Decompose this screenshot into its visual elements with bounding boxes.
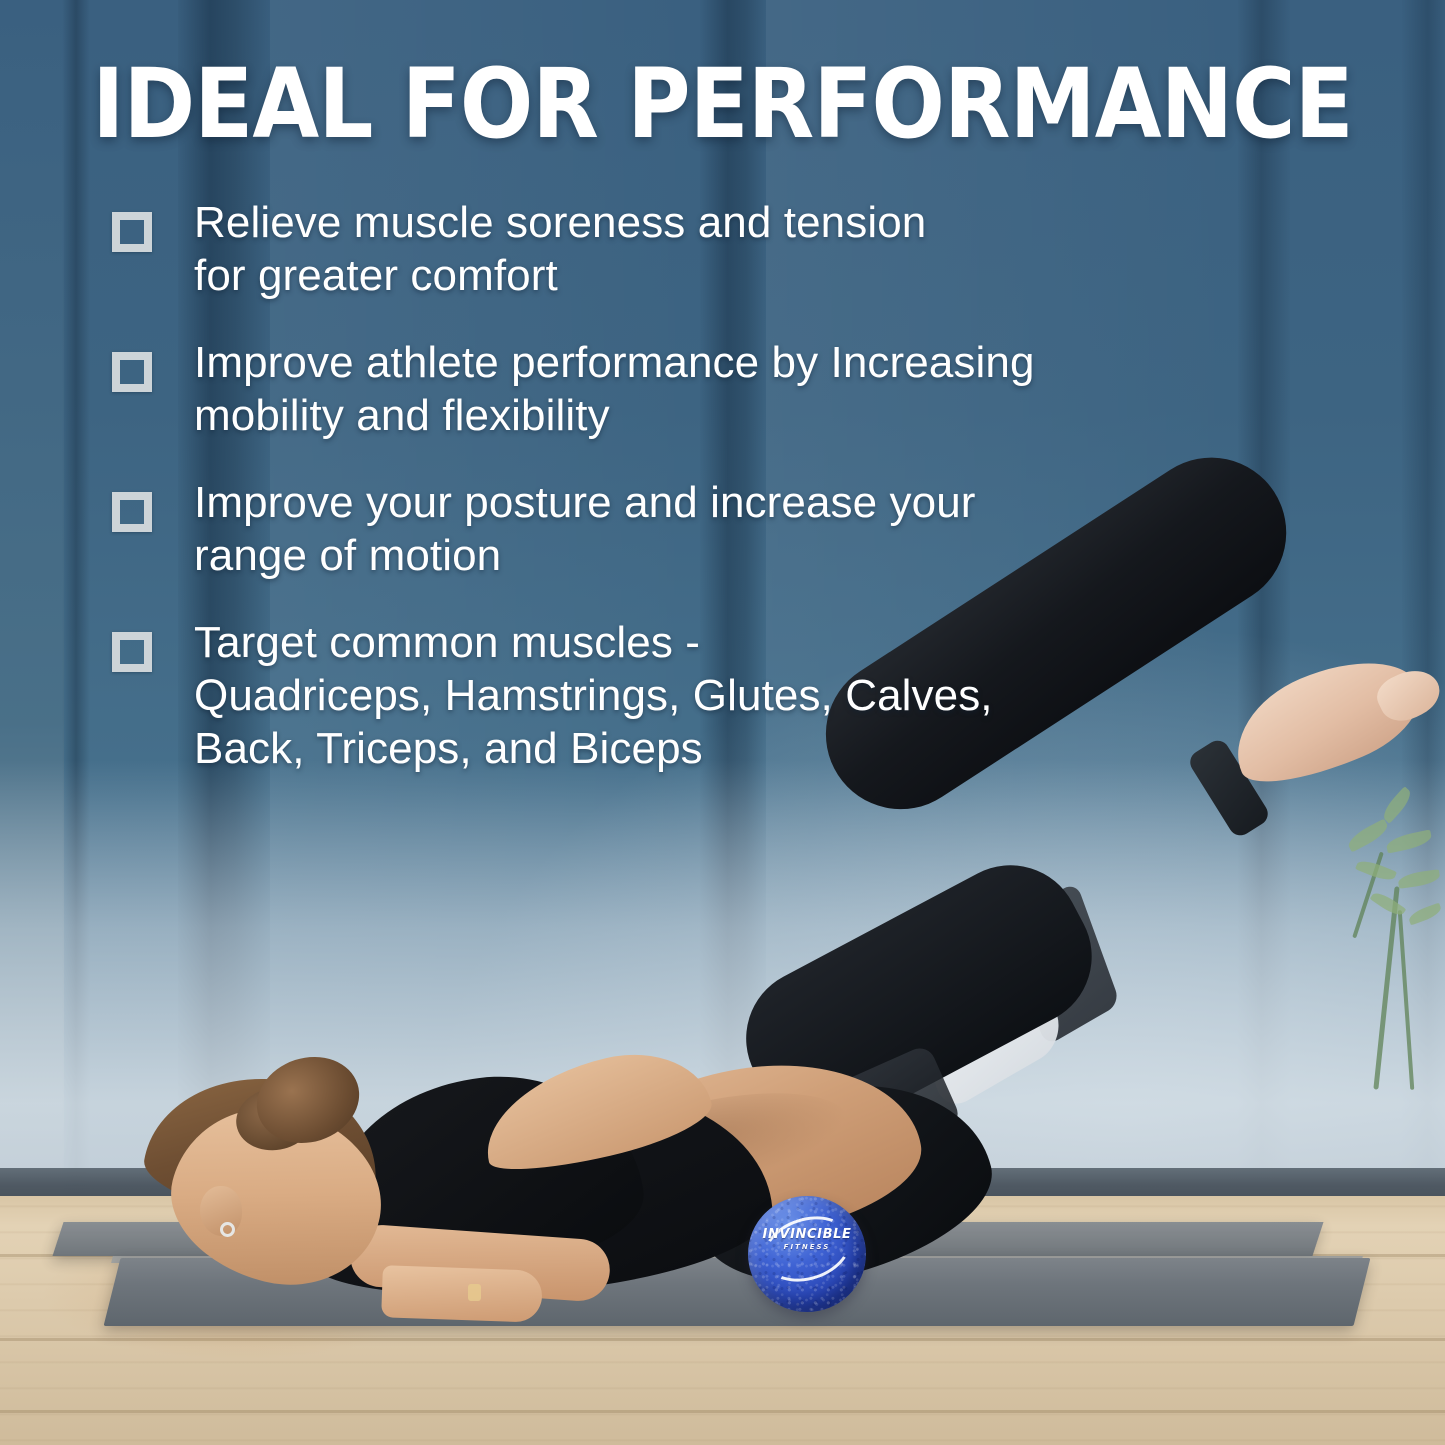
feature-list: Relieve muscle soreness and tension for … <box>112 196 1112 775</box>
checkbox-empty-icon <box>112 632 152 672</box>
checkbox-empty-icon <box>112 352 152 392</box>
list-item-label: Relieve muscle soreness and tension for … <box>194 196 926 302</box>
list-item-label: Improve your posture and increase your r… <box>194 476 976 582</box>
list-item-label: Improve athlete performance by Increasin… <box>194 336 1035 442</box>
brand-tagline: FITNESS <box>748 1244 866 1251</box>
product-marketing-image: INVINCIBLE FITNESS IDEAL FOR PERFORMANCE… <box>0 0 1445 1445</box>
page-title: IDEAL FOR PERFORMANCE <box>72 56 1373 152</box>
massage-ball-body: INVINCIBLE FITNESS <box>748 1196 866 1312</box>
brand-name: INVINCIBLE <box>748 1228 866 1241</box>
hand <box>381 1265 543 1323</box>
checkbox-empty-icon <box>112 492 152 532</box>
ring <box>468 1284 481 1301</box>
list-item: Relieve muscle soreness and tension for … <box>112 196 1112 302</box>
massage-ball-product[interactable]: INVINCIBLE FITNESS <box>748 1196 866 1312</box>
list-item: Improve your posture and increase your r… <box>112 476 1112 582</box>
list-item: Improve athlete performance by Increasin… <box>112 336 1112 442</box>
checkbox-empty-icon <box>112 212 152 252</box>
earring <box>220 1222 235 1237</box>
brand-logo: INVINCIBLE FITNESS <box>748 1228 866 1251</box>
list-item: Target common muscles - Quadriceps, Hams… <box>112 616 1112 775</box>
list-item-label: Target common muscles - Quadriceps, Hams… <box>194 616 993 775</box>
